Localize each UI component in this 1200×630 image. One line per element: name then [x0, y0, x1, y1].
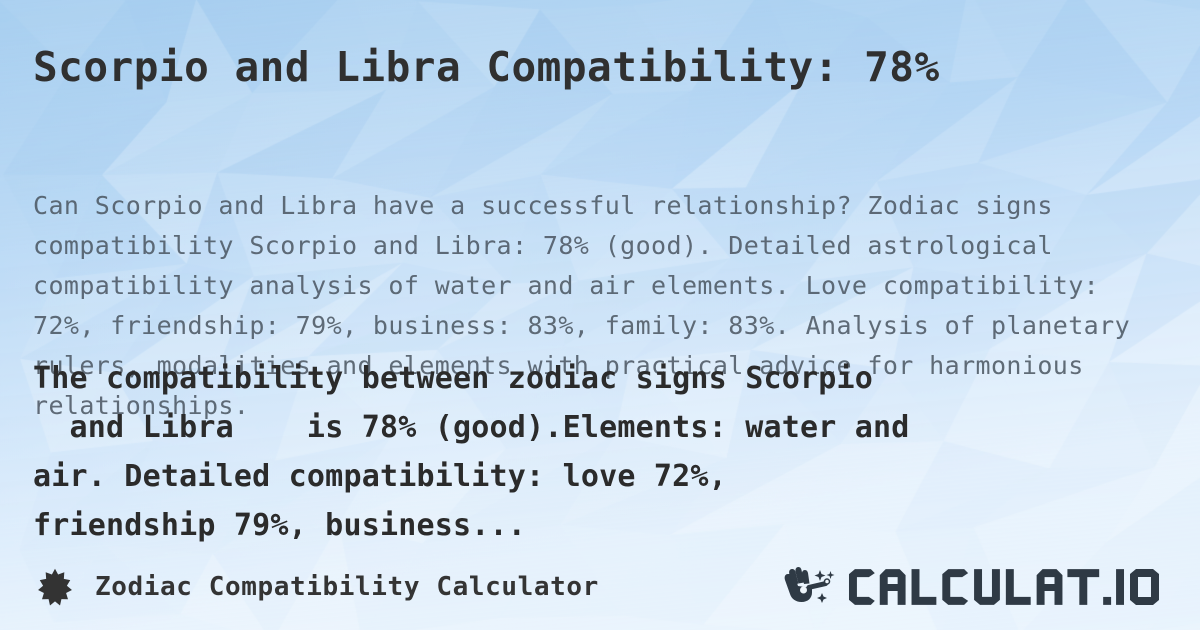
calculatio-logo: [783, 566, 1164, 608]
page-title: Scorpio and Libra Compatibility: 78%: [33, 40, 1173, 94]
hand-holding-magic-wand-icon: [783, 566, 839, 608]
calculatio-wordmark: [847, 566, 1164, 608]
brand-label: Zodiac Compatibility Calculator: [95, 572, 599, 602]
og-card: Scorpio and Libra Compatibility: 78% Can…: [0, 0, 1200, 630]
brand-left-group: Zodiac Compatibility Calculator: [36, 568, 599, 606]
twelve-point-star-icon: [36, 568, 74, 606]
overlay-summary-text: The compatibility between zodiac signs S…: [33, 354, 1173, 550]
footer-bar: Zodiac Compatibility Calculator: [0, 544, 1200, 630]
